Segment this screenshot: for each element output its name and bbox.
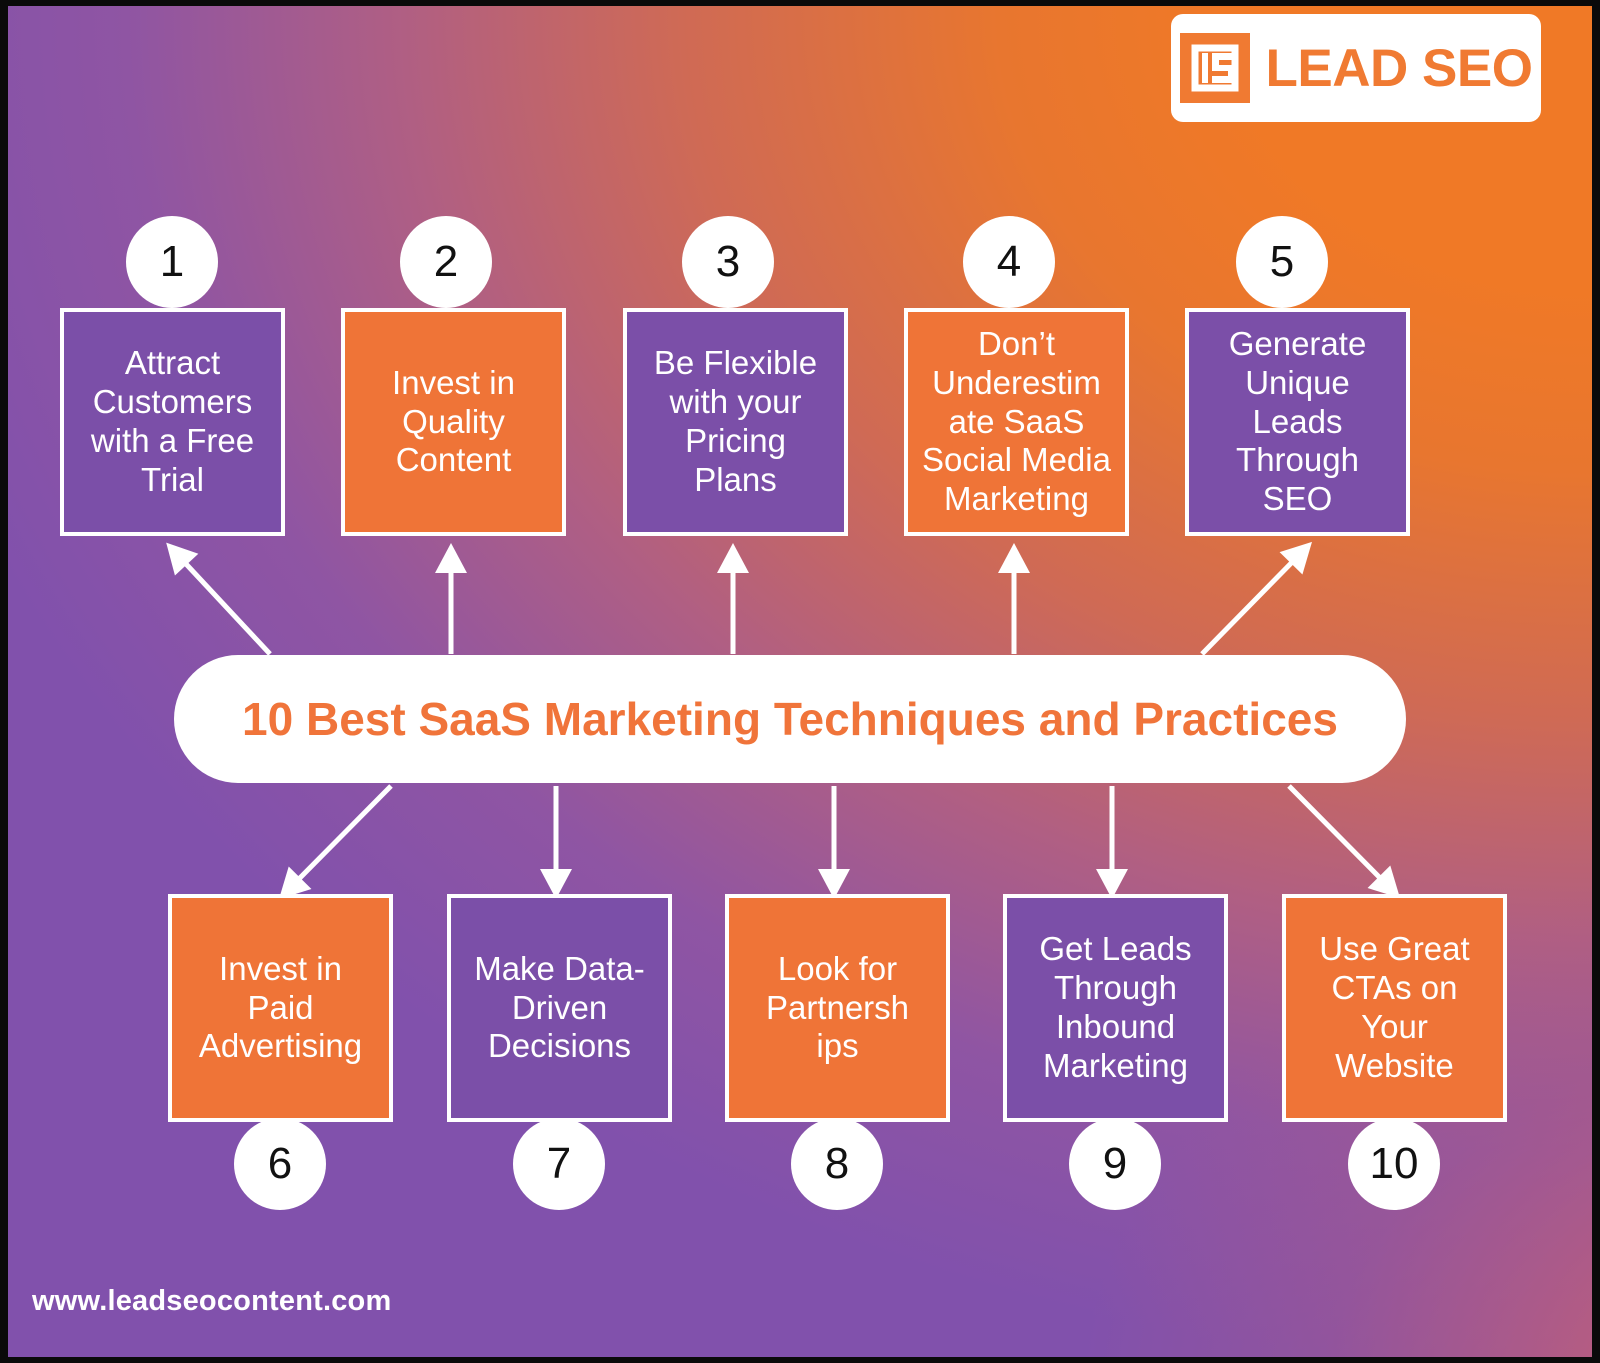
ls-monogram-icon [1180,33,1250,103]
step-badge-6: 6 [234,1118,326,1210]
arrow-to-node-1 [173,550,270,654]
step-badge-5: 5 [1236,216,1328,308]
step-box-8[interactable]: Look for Partnersh ips [725,894,950,1122]
step-badge-3: 3 [682,216,774,308]
footer-website-url: www.leadseocontent.com [32,1285,391,1318]
banner-title: 10 Best SaaS Marketing Techniques and Pr… [242,692,1338,746]
center-banner: 10 Best SaaS Marketing Techniques and Pr… [174,655,1406,783]
brand-wordmark: LEAD SEO [1266,42,1533,95]
step-box-9[interactable]: Get Leads Through Inbound Marketing [1003,894,1228,1122]
step-box-6[interactable]: Invest in Paid Advertising [168,894,393,1122]
step-box-3[interactable]: Be Flexible with your Pricing Plans [623,308,848,536]
step-box-2[interactable]: Invest in Quality Content [341,308,566,536]
step-badge-8: 8 [791,1118,883,1210]
infographic-canvas: LEAD SEO 1 2 3 4 5 Attract Customers wit… [0,0,1600,1363]
arrow-to-node-10 [1289,786,1393,891]
step-badge-7: 7 [513,1118,605,1210]
step-box-7[interactable]: Make Data- Driven Decisions [447,894,672,1122]
step-box-5[interactable]: Generate Unique Leads Through SEO [1185,308,1410,536]
step-badge-9: 9 [1069,1118,1161,1210]
step-badge-2: 2 [400,216,492,308]
arrow-to-node-5 [1202,549,1305,654]
step-box-4[interactable]: Don’t Underestim ate SaaS Social Media M… [904,308,1129,536]
step-badge-10: 10 [1348,1118,1440,1210]
step-box-10[interactable]: Use Great CTAs on Your Website [1282,894,1507,1122]
arrow-to-node-6 [286,786,391,892]
infographic-artboard: LEAD SEO 1 2 3 4 5 Attract Customers wit… [8,6,1592,1357]
step-badge-4: 4 [963,216,1055,308]
step-badge-1: 1 [126,216,218,308]
brand-logo: LEAD SEO [1171,14,1541,122]
step-box-1[interactable]: Attract Customers with a Free Trial [60,308,285,536]
